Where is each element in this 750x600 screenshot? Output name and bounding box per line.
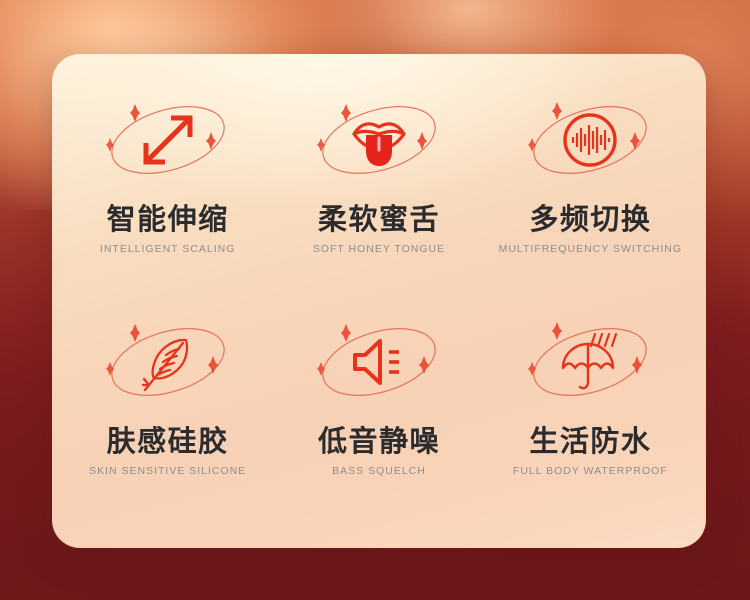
icon-container — [88, 308, 248, 416]
feature-cell-bass-squelch[interactable]: 低音静噪 BASS SQUELCH — [273, 292, 484, 514]
feature-subtitle: FULL BODY WATERPROOF — [513, 465, 668, 477]
feature-subtitle: SKIN SENSITIVE SILICONE — [89, 465, 246, 477]
feature-title: 低音静噪 — [318, 426, 440, 456]
feature-cell-intelligent-scaling[interactable]: 智能伸缩 INTELLIGENT SCALING — [62, 70, 273, 292]
feature-subtitle: INTELLIGENT SCALING — [100, 243, 236, 255]
feature-cell-soft-honey-tongue[interactable]: 柔软蜜舌 SOFT HONEY TONGUE — [273, 70, 484, 292]
feature-card: 智能伸缩 INTELLIGENT SCALING — [52, 54, 706, 548]
feature-cell-full-body-waterproof[interactable]: 生活防水 FULL BODY WATERPROOF — [485, 292, 696, 514]
icon-container — [299, 308, 459, 416]
feature-subtitle: SOFT HONEY TONGUE — [313, 243, 445, 255]
feature-subtitle: BASS SQUELCH — [332, 465, 426, 477]
feature-cell-skin-sensitive-silicone[interactable]: 肤感硅胶 SKIN SENSITIVE SILICONE — [62, 292, 273, 514]
icon-container — [88, 86, 248, 194]
umbrella-rain-icon — [558, 330, 622, 394]
feature-title: 柔软蜜舌 — [318, 204, 440, 234]
feature-grid: 智能伸缩 INTELLIGENT SCALING — [52, 54, 706, 548]
feature-cell-multifrequency-switching[interactable]: 多频切换 MULTIFREQUENCY SWITCHING — [485, 70, 696, 292]
icon-container — [299, 86, 459, 194]
feature-title: 多频切换 — [529, 204, 651, 234]
feature-title: 肤感硅胶 — [107, 426, 229, 456]
feature-title: 智能伸缩 — [107, 204, 229, 234]
expand-arrows-icon — [136, 108, 200, 172]
icon-container — [510, 86, 670, 194]
feature-title: 生活防水 — [529, 426, 651, 456]
icon-container — [510, 308, 670, 416]
speaker-mute-icon — [347, 330, 411, 394]
waveform-circle-icon — [558, 108, 622, 172]
feather-icon — [136, 330, 200, 394]
feature-subtitle: MULTIFREQUENCY SWITCHING — [499, 243, 682, 255]
lips-tongue-icon — [347, 108, 411, 172]
product-feature-poster: 智能伸缩 INTELLIGENT SCALING — [0, 0, 750, 600]
